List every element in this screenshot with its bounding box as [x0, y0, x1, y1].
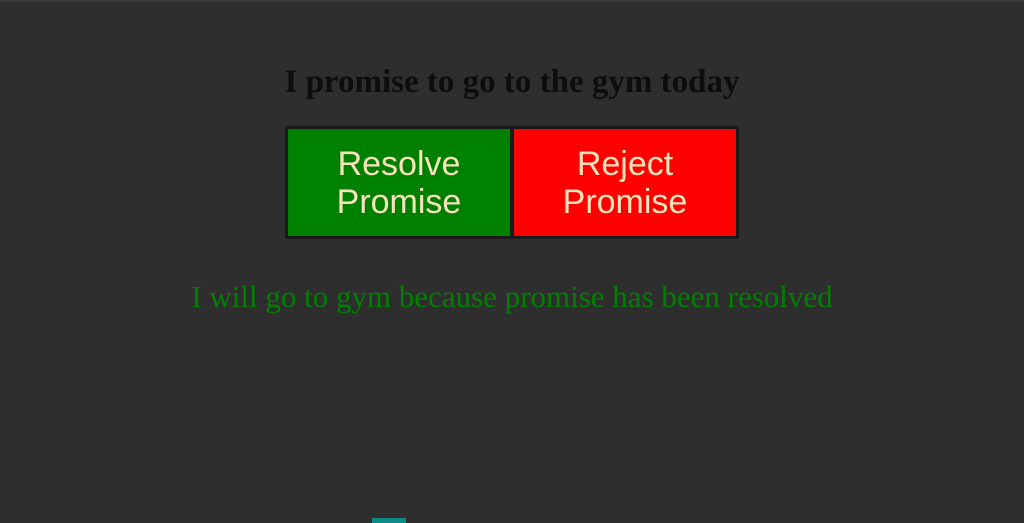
resolve-promise-button-label-line1: Resolve — [288, 145, 510, 183]
resolve-promise-button[interactable]: Resolve Promise — [285, 126, 512, 239]
promise-button-group: Resolve Promise Reject Promise — [285, 126, 739, 239]
window-top-edge — [0, 0, 1024, 2]
app-root: I promise to go to the gym today Resolve… — [0, 0, 1024, 523]
reject-promise-button-label-line1: Reject — [514, 145, 736, 183]
scroll-progress-bar[interactable] — [372, 518, 406, 523]
reject-promise-button[interactable]: Reject Promise — [512, 126, 739, 239]
promise-result-message: I will go to gym because promise has bee… — [0, 278, 1024, 316]
resolve-promise-button-label-line2: Promise — [288, 183, 510, 221]
page-title: I promise to go to the gym today — [0, 62, 1024, 102]
reject-promise-button-label-line2: Promise — [514, 183, 736, 221]
